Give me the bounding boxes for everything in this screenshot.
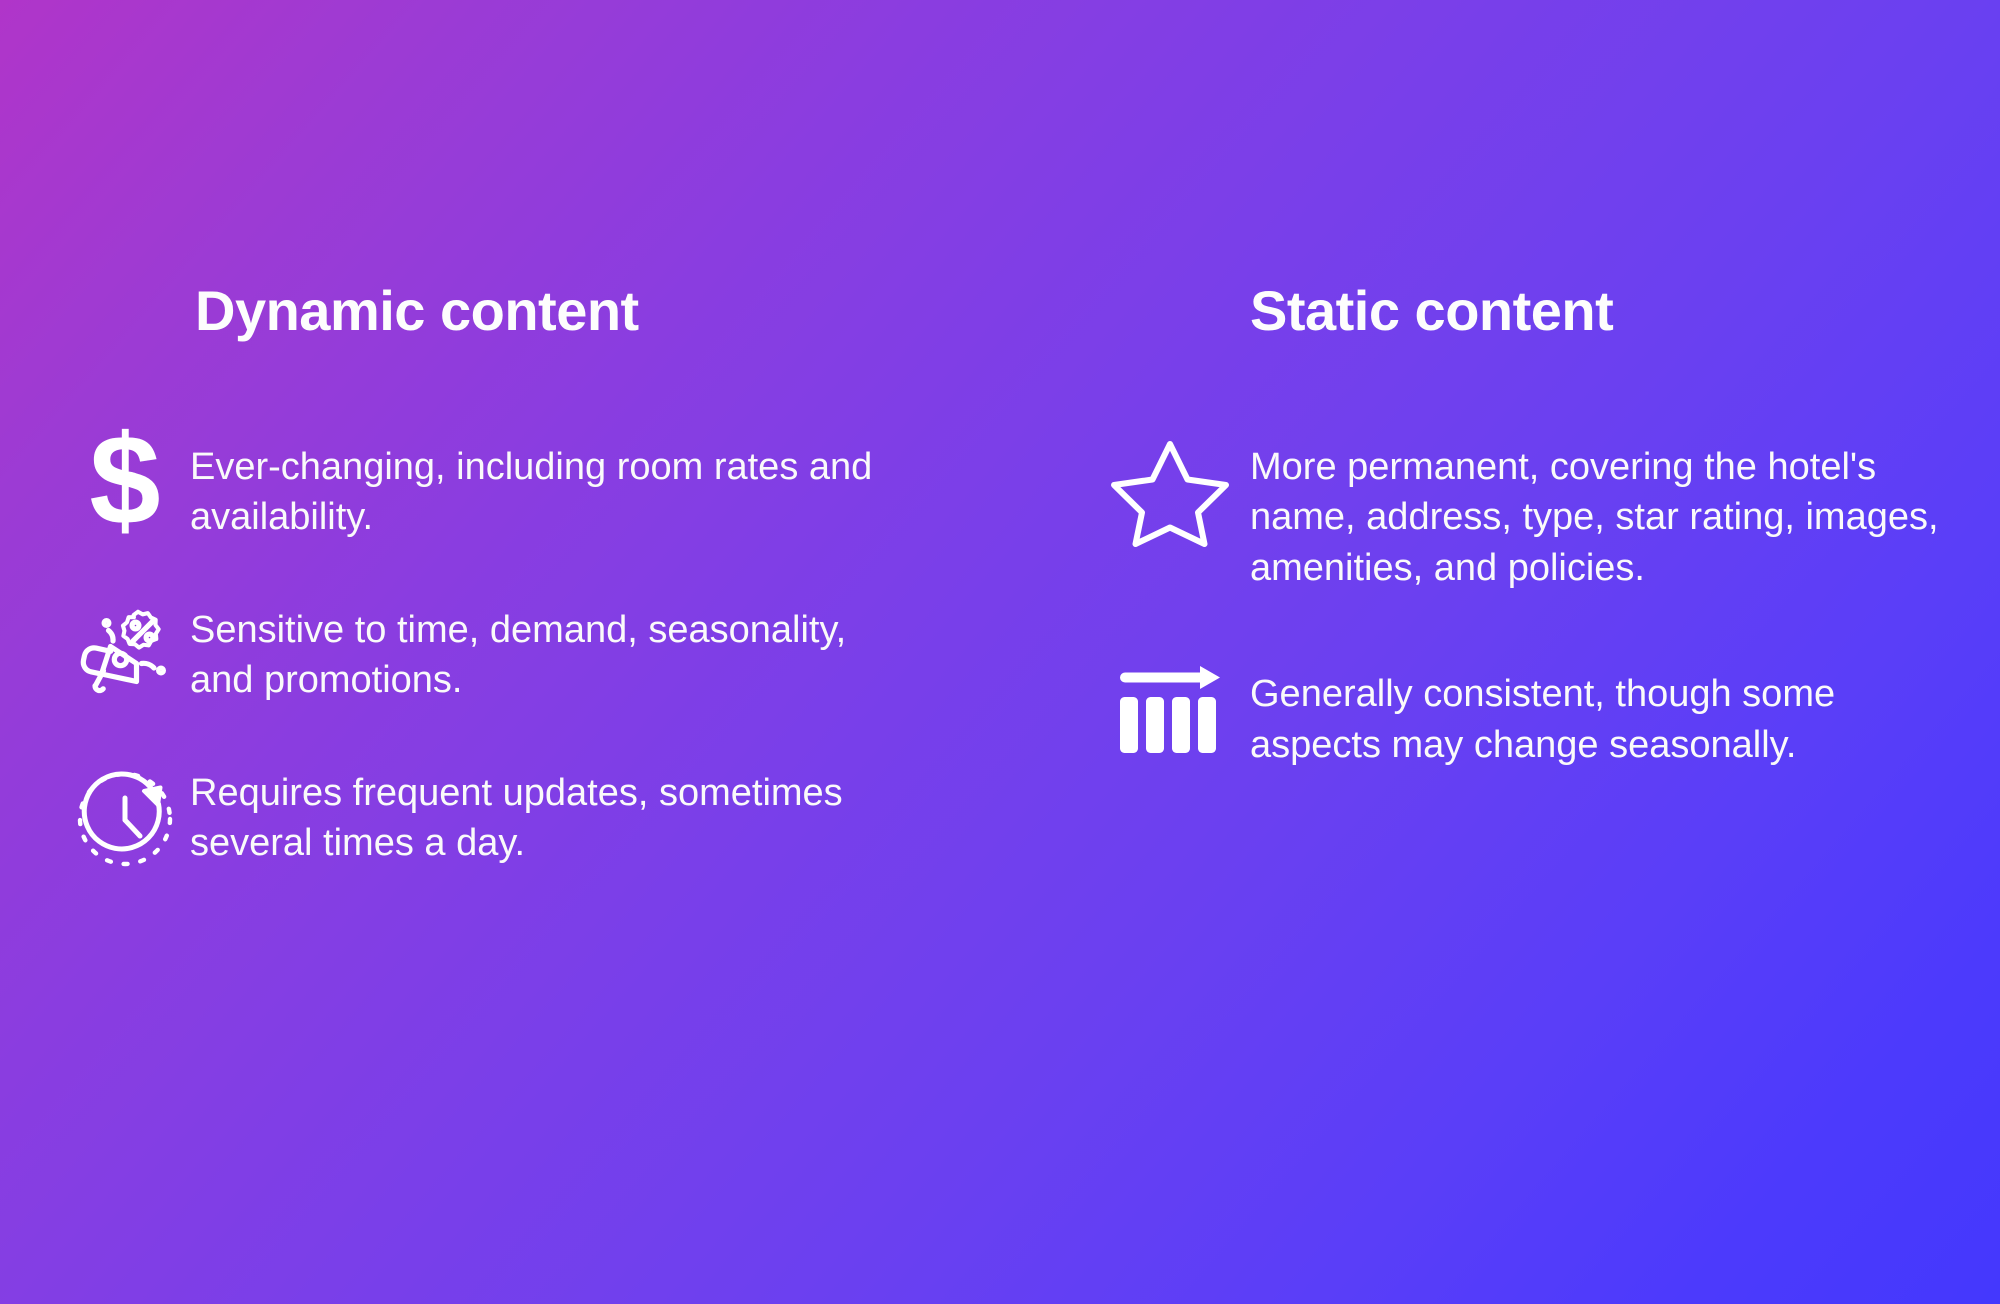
list-item: $ Ever-changing, including room rates an… [60,438,960,543]
list-item: Requires frequent updates, sometimes sev… [60,764,960,870]
dynamic-content-heading: Dynamic content [195,280,960,342]
list-item-text: Generally consistent, though some aspect… [1250,665,1940,770]
clock-refresh-icon [60,764,190,870]
list-item-text: More permanent, covering the hotel's nam… [1250,438,1940,594]
slide-canvas: Dynamic content $ Ever-changing, includi… [0,0,2000,1304]
list-item: Generally consistent, though some aspect… [1090,665,1950,770]
dynamic-content-column: Dynamic content $ Ever-changing, includi… [60,280,960,930]
list-item-text: Sensitive to time, demand, seasonality, … [190,601,910,706]
list-item-text: Ever-changing, including room rates and … [190,438,910,543]
star-outline-icon [1090,438,1250,550]
megaphone-discount-icon [60,601,190,705]
static-content-column: Static content More permanent, covering … [1090,280,1950,842]
dollar-sign-icon: $ [60,438,190,536]
list-item: Sensitive to time, demand, seasonality, … [60,601,960,706]
list-item: More permanent, covering the hotel's nam… [1090,438,1950,594]
bar-chart-arrow-icon [1090,665,1250,755]
static-content-heading: Static content [1250,280,1950,342]
list-item-text: Requires frequent updates, sometimes sev… [190,764,910,869]
